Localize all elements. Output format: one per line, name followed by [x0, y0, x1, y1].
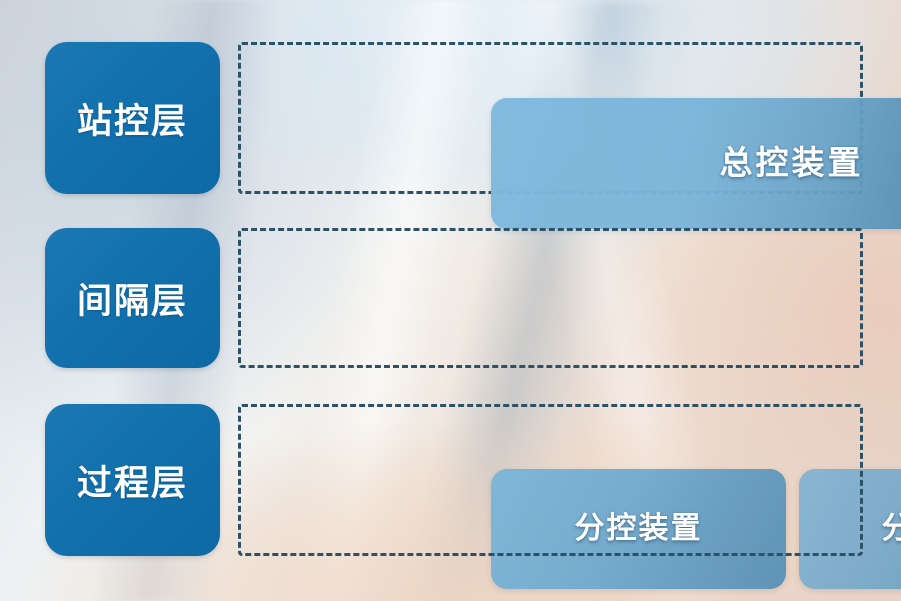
layer-chip-process-level[interactable]: 过程层: [45, 404, 220, 556]
layer-chip-station-control[interactable]: 站控层: [45, 42, 220, 194]
layer-group-process-level: 车辆位置 传感器 报警装置 车辆位置 传感器 报警装置 1#股道 25#股道: [238, 404, 863, 556]
layer-chip-label-station-control: 站控层: [77, 93, 188, 144]
diagram-canvas: 站控层 总控装置 间隔层 分控装置 分控装置 过程层 车辆位置 传感器 报警装置…: [0, 0, 901, 601]
layer-group-bay-level: 分控装置 分控装置: [238, 228, 863, 368]
layer-group-station-control: 总控装置: [238, 42, 863, 194]
device-label-master-control: 总控装置: [720, 145, 864, 182]
device-master-control[interactable]: 总控装置: [491, 98, 901, 229]
layer-chip-bay-level[interactable]: 间隔层: [45, 228, 220, 368]
device-label-sub-control-2: 分控装置: [882, 512, 901, 546]
layer-chip-label-process-level: 过程层: [77, 455, 188, 506]
layer-chip-label-bay-level: 间隔层: [77, 273, 188, 324]
